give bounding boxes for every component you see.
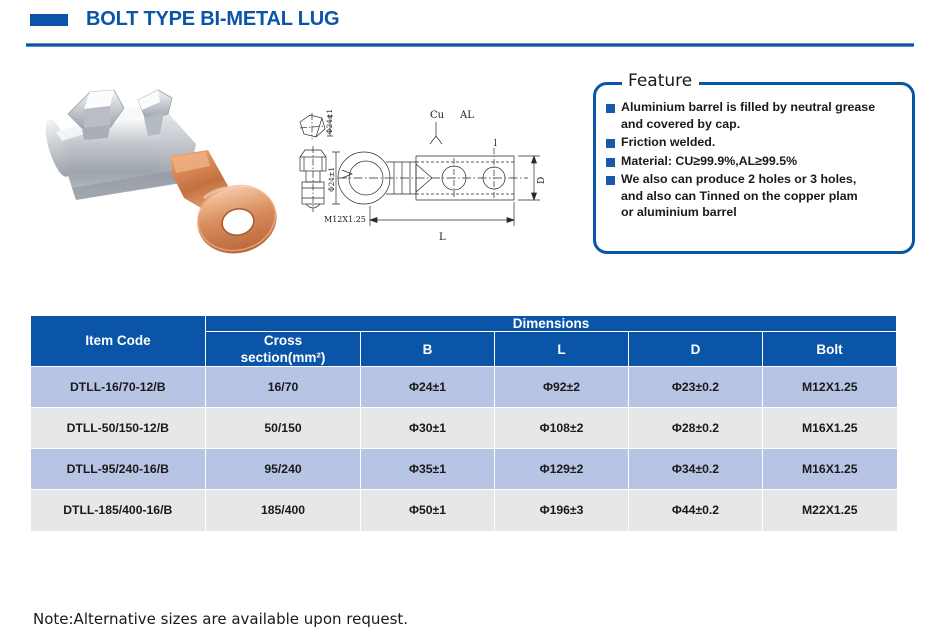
bullet-square-icon — [606, 158, 615, 167]
cell-bolt: M16X1.25 — [763, 449, 897, 490]
column-header-dimensions: Dimensions — [206, 316, 897, 332]
cell-d: Φ28±0.2 — [629, 408, 763, 449]
cell-l: Φ196±3 — [495, 490, 629, 531]
column-header-bolt: Bolt — [763, 332, 897, 367]
page-title: BOLT TYPE BI-METAL LUG — [30, 8, 339, 31]
cell-item-code: DTLL-50/150-12/B — [31, 408, 206, 449]
feature-legend-title: Feature — [622, 71, 699, 91]
feature-item-text: Aluminium barrel is filled by neutral gr… — [621, 99, 875, 132]
table-row: DTLL-185/400-16/B 185/400 Φ50±1 Φ196±3 Φ… — [31, 490, 897, 531]
feature-item-text: We also can produce 2 holes or 3 holes, … — [621, 171, 858, 221]
column-header-b: B — [361, 332, 495, 367]
table-row: DTLL-16/70-12/B 16/70 Φ24±1 Φ92±2 Φ23±0.… — [31, 367, 897, 408]
table-body: DTLL-16/70-12/B 16/70 Φ24±1 Φ92±2 Φ23±0.… — [31, 367, 897, 531]
cell-l: Φ92±2 — [495, 367, 629, 408]
bullet-square-icon — [606, 176, 615, 185]
table-note: Note:Alternative sizes are available upo… — [33, 610, 408, 628]
drawing-label-thread: M12X1.25 — [324, 215, 366, 224]
table-header-row-1: Item Code Dimensions — [31, 316, 897, 332]
technical-drawing: Cu AL L l D Φ24±1 Φ24±1 M12X1.25 — [282, 100, 582, 250]
cell-d: Φ44±0.2 — [629, 490, 763, 531]
cell-l: Φ129±2 — [495, 449, 629, 490]
cell-cross-section: 16/70 — [206, 367, 361, 408]
column-header-item-code: Item Code — [31, 316, 206, 367]
cell-cross-section: 95/240 — [206, 449, 361, 490]
title-divider — [26, 43, 914, 47]
cell-cross-section: 185/400 — [206, 490, 361, 531]
cell-item-code: DTLL-95/240-16/B — [31, 449, 206, 490]
cell-item-code: DTLL-16/70-12/B — [31, 367, 206, 408]
cell-cross-section: 50/150 — [206, 408, 361, 449]
feature-item: Material: CU≥99.9%,AL≥99.5% — [606, 153, 904, 170]
cell-b: Φ35±1 — [361, 449, 495, 490]
product-photo — [32, 78, 294, 258]
column-header-item-code-label: Item Code — [31, 332, 205, 350]
cell-bolt: M16X1.25 — [763, 408, 897, 449]
bullet-square-icon — [606, 139, 615, 148]
bullet-square-icon — [606, 104, 615, 113]
table-row: DTLL-95/240-16/B 95/240 Φ35±1 Φ129±2 Φ34… — [31, 449, 897, 490]
cell-d: Φ34±0.2 — [629, 449, 763, 490]
cell-bolt: M22X1.25 — [763, 490, 897, 531]
cell-d: Φ23±0.2 — [629, 367, 763, 408]
cell-item-code: DTLL-185/400-16/B — [31, 490, 206, 531]
cell-b: Φ50±1 — [361, 490, 495, 531]
page-title-text: BOLT TYPE BI-METAL LUG — [86, 8, 339, 31]
feature-box: Aluminium barrel is filled by neutral gr… — [593, 82, 915, 254]
cell-bolt: M12X1.25 — [763, 367, 897, 408]
title-accent-bar — [30, 14, 68, 26]
drawing-label-ring-dim: Φ24±1 — [328, 167, 336, 192]
feature-item: Friction welded. — [606, 134, 904, 151]
product-spec-sheet: BOLT TYPE BI-METAL LUG — [0, 0, 925, 644]
cell-l: Φ108±2 — [495, 408, 629, 449]
drawing-label-length: L — [439, 232, 446, 243]
specification-table: Item Code Dimensions Cross section(mm²) … — [30, 315, 897, 531]
table-row: DTLL-50/150-12/B 50/150 Φ30±1 Φ108±2 Φ28… — [31, 408, 897, 449]
drawing-label-head-dim: Φ24±1 — [326, 109, 334, 134]
feature-item: Aluminium barrel is filled by neutral gr… — [606, 99, 904, 132]
table-header: Item Code Dimensions Cross section(mm²) … — [31, 316, 897, 367]
drawing-label-hole: l — [494, 139, 497, 149]
drawing-label-cu: Cu — [430, 110, 445, 121]
column-header-l: L — [495, 332, 629, 367]
cell-b: Φ30±1 — [361, 408, 495, 449]
cell-b: Φ24±1 — [361, 367, 495, 408]
feature-item-text: Friction welded. — [621, 134, 715, 151]
column-header-cross-section-label: Cross section(mm²) — [206, 332, 360, 366]
drawing-label-al: AL — [459, 110, 474, 121]
column-header-d: D — [629, 332, 763, 367]
feature-list: Aluminium barrel is filled by neutral gr… — [606, 99, 904, 223]
feature-item: We also can produce 2 holes or 3 holes, … — [606, 171, 904, 221]
feature-item-text: Material: CU≥99.9%,AL≥99.5% — [621, 153, 797, 170]
drawing-label-diameter: D — [537, 177, 547, 184]
column-header-cross-section: Cross section(mm²) — [206, 332, 361, 367]
